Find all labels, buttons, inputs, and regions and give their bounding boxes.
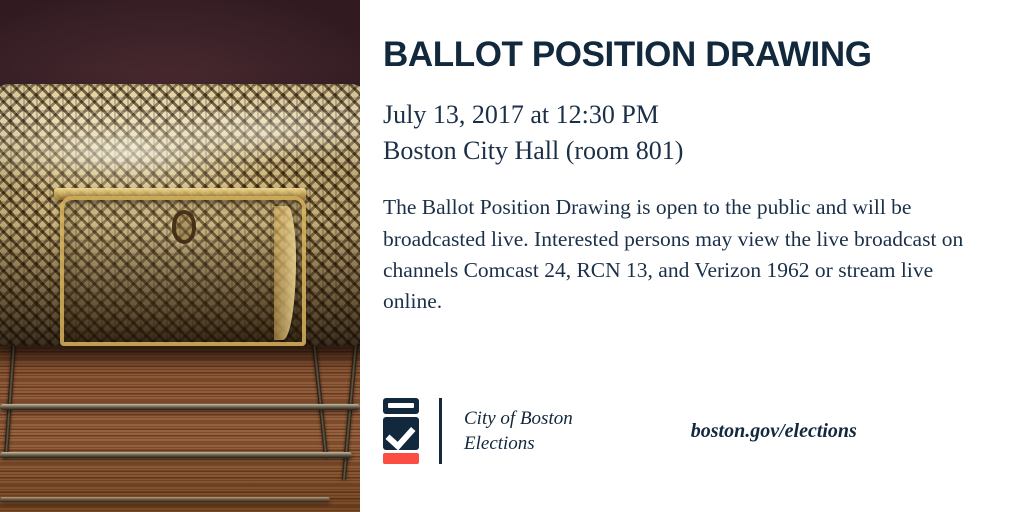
drum-door-latch-ring-icon bbox=[172, 210, 196, 244]
checkmark-shape bbox=[383, 417, 419, 450]
footer-row: City of Boston Elections boston.gov/elec… bbox=[383, 398, 995, 464]
ballot-slot-shape bbox=[383, 398, 419, 414]
event-details: July 13, 2017 at 12:30 PM Boston City Ha… bbox=[383, 97, 984, 171]
website-url[interactable]: boston.gov/elections bbox=[691, 420, 857, 443]
stand-rail-lower bbox=[0, 497, 330, 502]
photo-wooden-table bbox=[0, 330, 360, 512]
stand-rail-upper bbox=[0, 404, 360, 410]
announcement-body-text: The Ballot Position Drawing is open to t… bbox=[383, 192, 984, 318]
event-datetime: July 13, 2017 at 12:30 PM bbox=[383, 97, 984, 134]
city-of-boston-elections-logo[interactable]: City of Boston Elections bbox=[383, 398, 573, 464]
red-accent-bar bbox=[383, 453, 419, 464]
event-location: Boston City Hall (room 801) bbox=[383, 133, 984, 170]
logo-wordmark-line-2: Elections bbox=[464, 431, 573, 456]
tumbler-photo bbox=[0, 0, 360, 512]
photo-wall-background bbox=[0, 0, 360, 96]
logo-divider bbox=[439, 398, 442, 464]
page-title: BALLOT POSITION DRAWING bbox=[383, 36, 984, 75]
logo-wordmark: City of Boston Elections bbox=[464, 406, 573, 456]
logo-wordmark-line-1: City of Boston bbox=[464, 406, 573, 431]
stand-rail-middle bbox=[0, 452, 352, 458]
brass-lottery-drum bbox=[0, 84, 360, 346]
ballot-box-check-icon bbox=[383, 398, 419, 464]
announcement-panel: BALLOT POSITION DRAWING July 13, 2017 at… bbox=[360, 0, 1024, 512]
ballot-position-drawing-announcement-card: BALLOT POSITION DRAWING July 13, 2017 at… bbox=[0, 0, 1024, 512]
